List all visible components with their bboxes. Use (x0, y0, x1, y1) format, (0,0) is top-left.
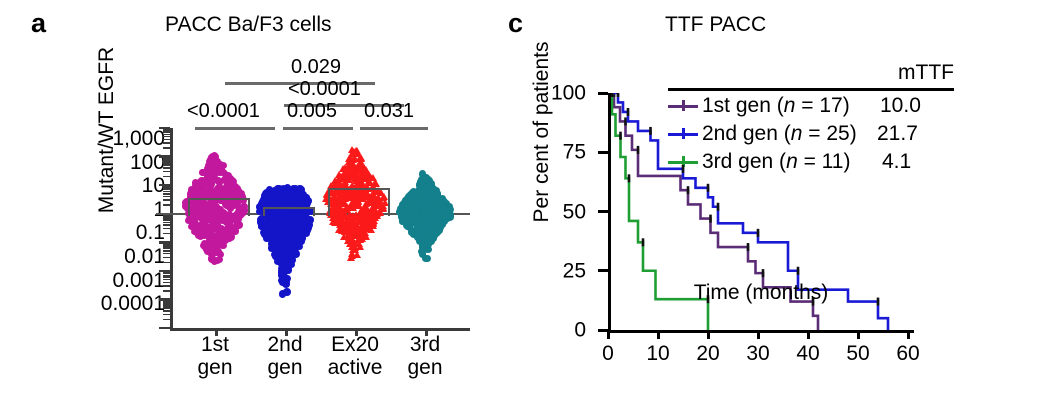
data-point (197, 187, 204, 194)
y-axis-minor-tick (163, 250, 170, 252)
data-point (339, 165, 347, 172)
data-point (419, 201, 426, 208)
x-axis-tick (857, 330, 860, 339)
x-axis-tick (807, 330, 810, 339)
box-outline (188, 198, 250, 216)
data-point (296, 243, 303, 250)
data-point (347, 226, 355, 233)
censor-mark (619, 132, 622, 140)
y-axis-minor-tick (163, 139, 170, 141)
data-point (215, 236, 222, 243)
y-tick-label: 25 (563, 260, 586, 281)
censor-mark (747, 243, 750, 251)
data-point (365, 171, 373, 178)
y-axis-minor-tick (163, 216, 170, 218)
panel-c-y-axis-label: Per cent of patients (530, 17, 554, 247)
censor-mark (627, 108, 630, 116)
figure-root: a PACC Ba/F3 cells Mutant/WT EGFR 1,000 … (0, 0, 1061, 419)
x-tick-label: 60 (896, 343, 919, 364)
y-axis-minor-tick (163, 189, 170, 191)
data-point (345, 234, 353, 241)
y-axis-minor-tick (163, 132, 170, 134)
y-axis-minor-tick (163, 305, 170, 307)
y-axis-minor-tick (163, 300, 170, 302)
x-tick-label: 50 (846, 343, 869, 364)
data-point (356, 167, 364, 174)
y-axis-minor-tick (163, 219, 170, 221)
data-point (434, 197, 441, 204)
panel-c-letter: c (508, 10, 523, 37)
data-point (355, 232, 363, 239)
data-point (214, 185, 221, 192)
censor-mark (637, 146, 640, 154)
pvalue-label: 0.005 (287, 101, 337, 121)
censor-mark (687, 186, 690, 194)
y-axis-minor-tick (163, 134, 170, 136)
censor-mark (611, 93, 614, 97)
y-axis-minor-tick (163, 275, 170, 277)
pvalue-label: <0.0001 (288, 79, 361, 99)
panel-a: a PACC Ba/F3 cells Mutant/WT EGFR 1,000 … (0, 0, 500, 419)
y-axis-minor-tick (163, 187, 170, 189)
y-axis-minor-tick (163, 196, 170, 198)
y-axis-minor-tick (163, 217, 170, 219)
censor-mark (707, 184, 710, 192)
data-point (282, 258, 289, 265)
y-tick-label: 75 (563, 142, 586, 163)
data-point (204, 230, 211, 237)
y-axis-minor-tick (163, 176, 170, 178)
data-point (273, 232, 280, 239)
y-axis-minor-tick (163, 186, 170, 188)
y-axis-minor-tick (163, 191, 170, 193)
data-point (198, 221, 205, 228)
y-axis-minor-tick (163, 307, 170, 309)
panel-a-title: PACC Ba/F3 cells (165, 14, 332, 35)
data-point (211, 153, 218, 160)
y-axis-minor-tick (163, 248, 170, 250)
y-axis-minor-tick (163, 136, 170, 138)
data-point (352, 147, 360, 154)
data-point (421, 175, 428, 182)
box-outline (328, 188, 390, 216)
data-point (208, 255, 215, 262)
y-axis-minor-tick (163, 310, 170, 312)
data-point (279, 290, 286, 297)
data-point (431, 186, 438, 193)
data-point (336, 180, 344, 187)
censor-mark (682, 165, 685, 173)
y-tick-label: 0.0001 (101, 293, 165, 314)
legend-mttf-header: mTTF (668, 62, 954, 83)
y-axis-line (170, 128, 173, 330)
y-axis-minor-tick (163, 243, 170, 245)
x-axis-tick (607, 330, 610, 339)
y-axis-minor-tick (163, 271, 170, 273)
pvalue-label: <0.0001 (187, 101, 260, 121)
censor-mark (649, 127, 652, 135)
y-axis-minor-tick (163, 285, 170, 287)
censor-mark (709, 215, 712, 223)
y-axis-minor-tick (163, 164, 170, 166)
y-axis-minor-tick (163, 157, 170, 159)
y-axis-minor-tick (163, 222, 170, 224)
x-tick-label: 20 (696, 343, 719, 364)
data-point (188, 186, 195, 193)
y-axis-minor-tick (163, 244, 170, 246)
y-axis-tick: 100 (598, 92, 608, 95)
panel-a-plot-area (170, 128, 470, 330)
y-tick-label: 0.001 (112, 270, 165, 291)
panel-c-title: TTF PACC (665, 14, 766, 35)
y-axis-minor-tick (163, 279, 170, 281)
data-point (276, 185, 283, 192)
censor-mark (642, 238, 645, 246)
y-axis-minor-tick (163, 204, 170, 206)
x-category-label: 3rd gen (380, 333, 470, 379)
y-axis-tick: 25 (598, 269, 608, 272)
data-point (217, 168, 224, 175)
x-axis-tick (707, 330, 710, 339)
y-axis-minor-tick (163, 303, 170, 305)
legend-divider (668, 88, 954, 91)
data-point (188, 223, 195, 230)
y-tick-label: 100 (551, 83, 586, 104)
y-axis-minor-tick (163, 262, 170, 264)
y-axis-minor-tick (163, 276, 170, 278)
data-point (267, 192, 274, 199)
censor-mark (797, 267, 800, 275)
y-axis-minor-tick (163, 159, 170, 161)
y-axis-minor-tick (163, 246, 170, 248)
data-point (440, 215, 447, 222)
panel-a-y-tick-labels: 1,000 100 10 1 0.1 0.01 0.001 0.0001 (55, 0, 165, 419)
data-point (422, 255, 429, 262)
panel-c-x-axis-label: Time (months) (608, 281, 914, 305)
data-point (266, 231, 273, 238)
y-tick-label: 50 (563, 201, 586, 222)
y-axis-minor-tick (163, 228, 170, 230)
censor-mark (717, 203, 720, 211)
y-axis-minor-tick (163, 224, 170, 226)
y-axis-minor-tick (163, 129, 170, 131)
y-axis-minor-tick (163, 142, 170, 144)
censor-mark (628, 174, 631, 182)
y-axis-minor-tick (163, 167, 170, 169)
x-axis-tick (657, 330, 660, 339)
data-point (290, 185, 297, 192)
y-tick-label: 0.01 (124, 246, 165, 267)
data-point (432, 230, 439, 237)
x-category-line2: gen (380, 356, 470, 379)
y-axis-minor-tick (163, 319, 170, 321)
y-axis-tick: 50 (598, 210, 608, 213)
y-axis-minor-tick (163, 273, 170, 275)
data-point (216, 256, 223, 263)
y-axis-minor-tick (163, 290, 170, 292)
x-tick-label: 40 (796, 343, 819, 364)
y-axis-minor-tick (163, 282, 170, 284)
y-axis-minor-tick (163, 233, 170, 235)
panel-a-letter: a (31, 10, 46, 37)
y-axis-minor-tick (163, 301, 170, 303)
y-axis-major-tick (159, 327, 170, 330)
data-point (221, 176, 228, 183)
panel-c: c TTF PACC Per cent of patients mTTF 1st… (500, 0, 1061, 419)
censor-mark (624, 117, 627, 125)
censor-mark (617, 93, 620, 97)
x-axis-line (608, 330, 914, 333)
y-tick-label: 0 (574, 320, 586, 341)
box-outline (263, 207, 315, 216)
censor-mark (762, 269, 765, 277)
pvalue-label: 0.031 (364, 101, 414, 121)
data-point (282, 280, 289, 287)
data-point (276, 246, 283, 253)
x-tick-label: 0 (602, 343, 614, 364)
data-point (356, 243, 364, 250)
data-point (205, 173, 212, 180)
y-axis-minor-tick (163, 257, 170, 259)
y-axis-minor-tick (163, 147, 170, 149)
y-axis-minor-tick (163, 160, 170, 162)
y-tick-label: 1,000 (112, 128, 165, 149)
data-point (278, 268, 285, 275)
y-axis-tick: 75 (598, 151, 608, 154)
x-axis-tick (757, 330, 760, 339)
data-point (279, 196, 286, 203)
data-point (215, 227, 222, 234)
x-tick-label: 30 (746, 343, 769, 364)
x-axis-tick (907, 330, 910, 339)
data-point (299, 234, 306, 241)
y-axis-minor-tick (163, 199, 170, 201)
x-tick-label: 10 (646, 343, 669, 364)
censor-mark (757, 229, 760, 237)
pvalue-label: 0.029 (291, 57, 341, 77)
y-axis-minor-tick (163, 253, 170, 255)
data-point (352, 174, 360, 181)
y-axis-minor-tick (163, 162, 170, 164)
data-point (348, 252, 356, 259)
y-axis-minor-tick (163, 130, 170, 132)
y-axis-minor-tick (163, 314, 170, 316)
data-point (220, 216, 227, 223)
y-axis-minor-tick (163, 193, 170, 195)
y-axis-minor-tick (163, 171, 170, 173)
data-point (420, 225, 427, 232)
data-point (403, 209, 410, 216)
x-category-line1: 3rd (380, 333, 470, 356)
data-point (399, 217, 406, 224)
